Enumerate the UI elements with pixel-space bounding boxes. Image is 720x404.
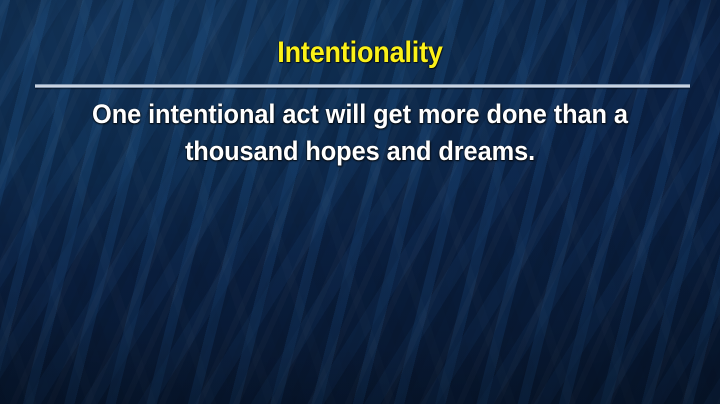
slide-content: Intentionality One intentional act will …	[0, 0, 720, 404]
slide-title: Intentionality	[36, 36, 684, 70]
title-divider-rule	[35, 84, 690, 88]
slide-empty-content-area	[0, 180, 720, 404]
body-line-2: thousand hopes and dreams.	[50, 133, 670, 170]
presentation-slide: Intentionality One intentional act will …	[0, 0, 720, 404]
body-line-1: One intentional act will get more done t…	[50, 96, 670, 133]
slide-body-text: One intentional act will get more done t…	[50, 96, 670, 170]
